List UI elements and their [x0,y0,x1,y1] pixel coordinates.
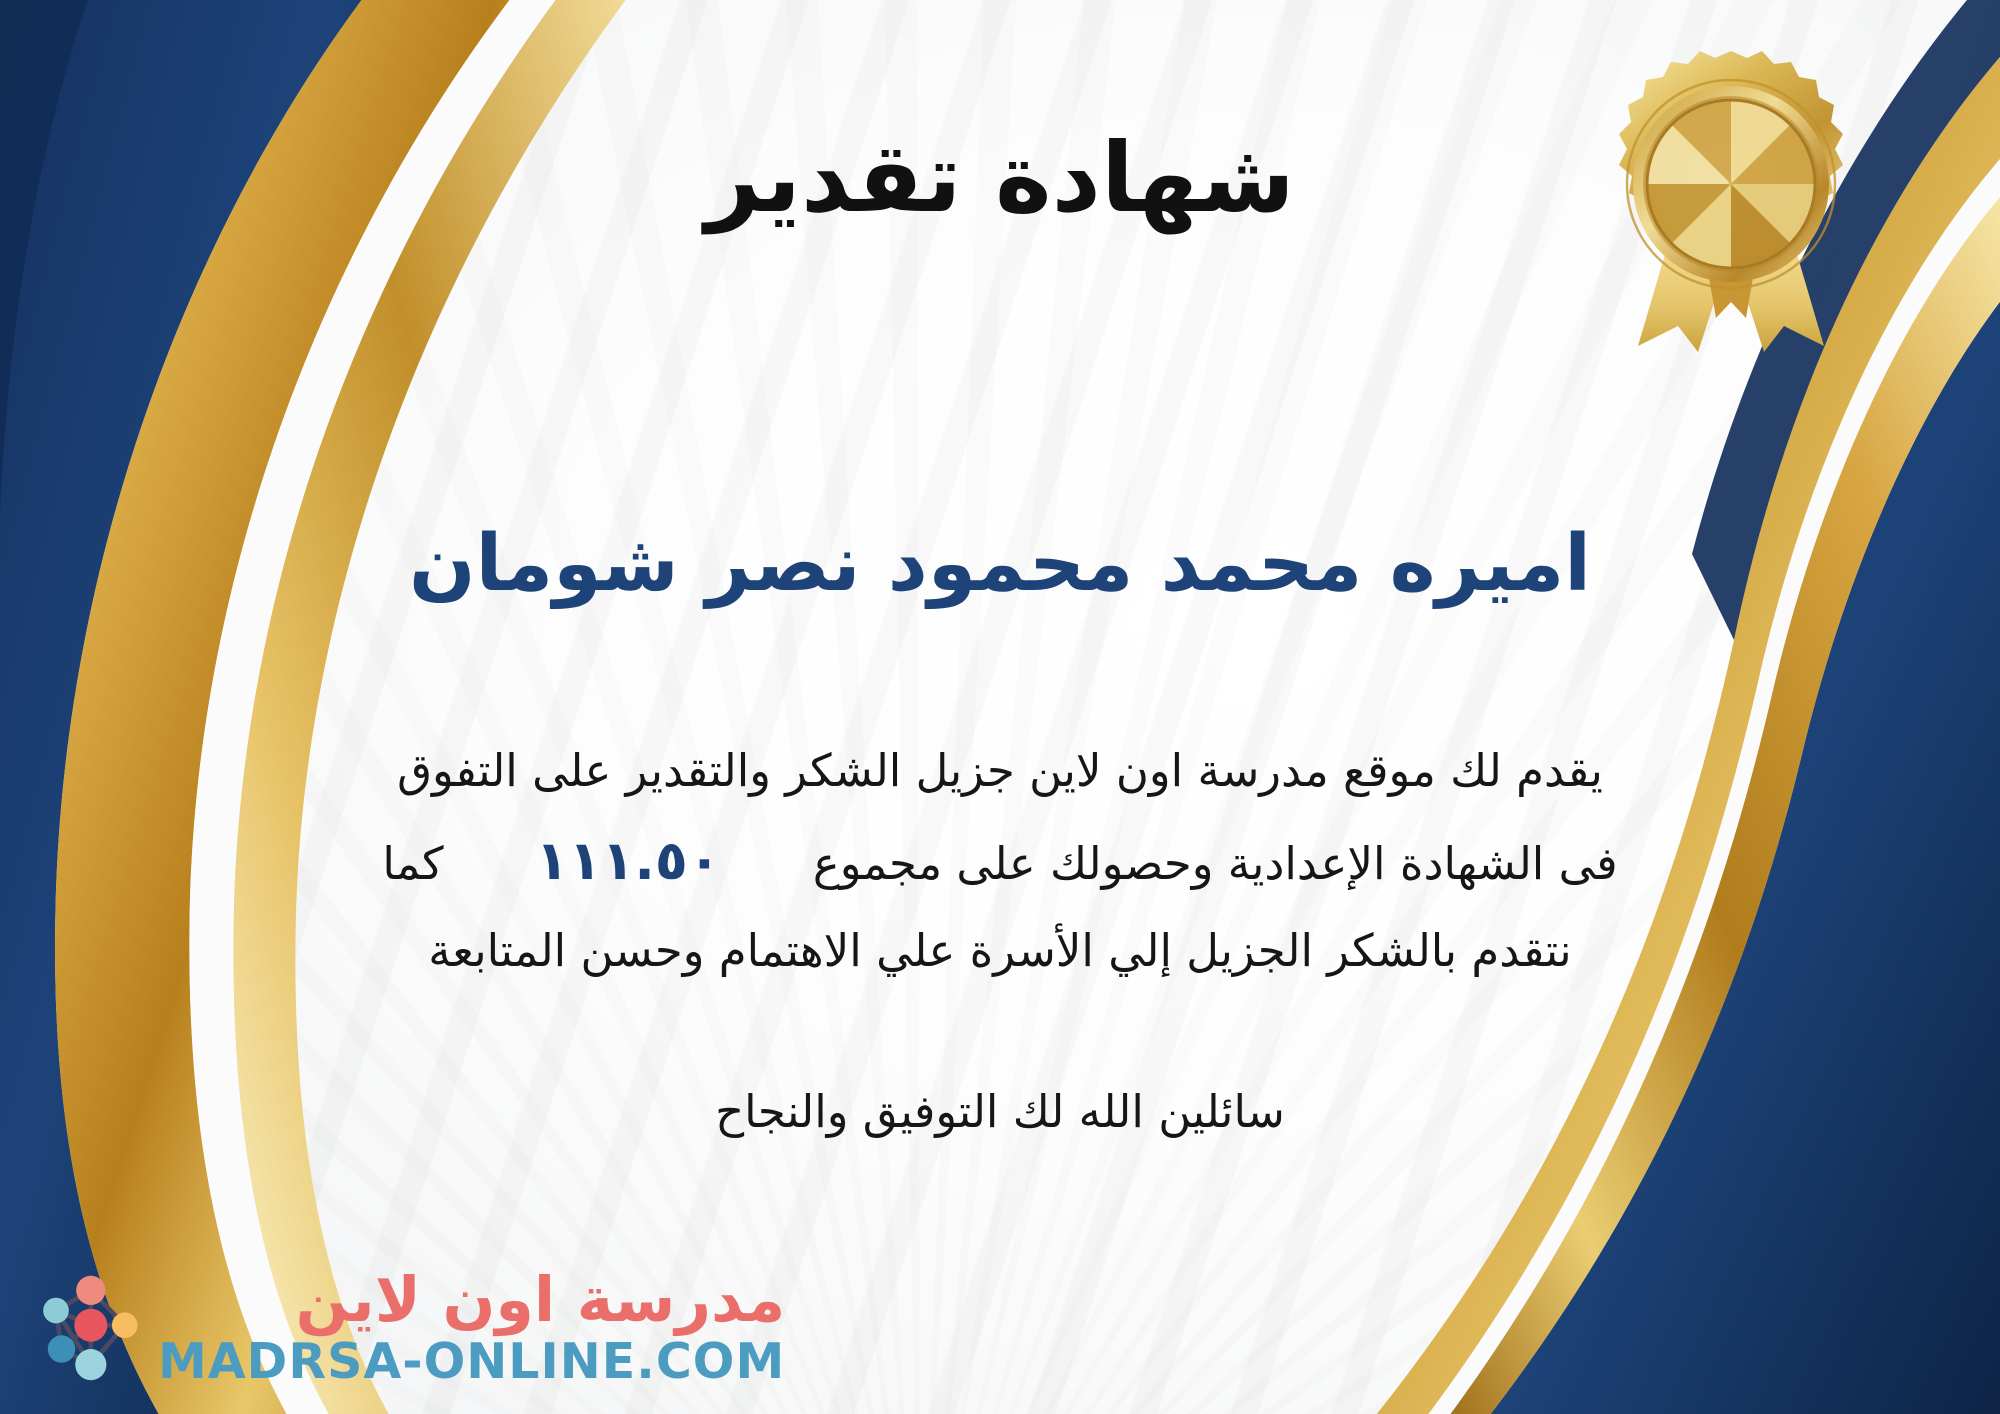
body-line-2-suffix: كما [382,837,443,890]
closing-line: سائلين الله لك التوفيق والنجاح [0,1085,2000,1138]
logo-domain: MADRSA-ONLINE.COM [158,1337,785,1386]
body-line-1: يقدم لك موقع مدرسة اون لاين جزيل الشكر و… [70,730,1930,812]
site-logo[interactable]: مدرسة اون لاين MADRSA-ONLINE.COM [34,1269,785,1386]
recipient-name: اميره محمد محمود نصر شومان [0,520,2000,610]
logo-arabic-name: مدرسة اون لاين [296,1269,786,1331]
grade-value: ١١١.٥٠ [502,829,755,892]
node-amber [112,1312,138,1338]
body-line-2: فى الشهادة الإعدادية وحصولك على مجموع١١١… [70,812,1930,910]
node-pale-teal [75,1349,106,1380]
logo-wordmark: مدرسة اون لاين MADRSA-ONLINE.COM [158,1269,785,1386]
node-light-teal [43,1298,69,1324]
node-salmon [76,1276,105,1305]
certificate-body: يقدم لك موقع مدرسة اون لاين جزيل الشكر و… [70,730,1930,992]
body-line-3: نتقدم بالشكر الجزيل إلي الأسرة علي الاهت… [70,910,1930,992]
certificate-canvas: شهادة تقدير اميره محمد محمود نصر شومان ي… [0,0,2000,1414]
network-nodes-icon [34,1270,144,1385]
certificate-title: شهادة تقدير [0,128,2000,229]
node-blue [48,1335,76,1363]
node-red [74,1309,107,1342]
body-line-2-prefix: فى الشهادة الإعدادية وحصولك على مجموع [813,837,1618,890]
